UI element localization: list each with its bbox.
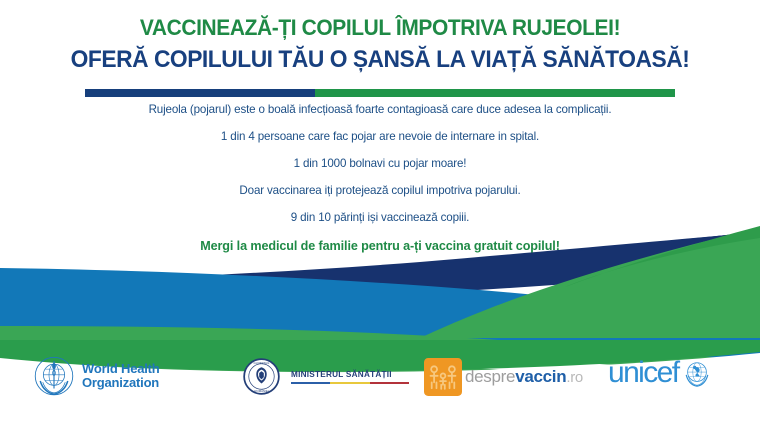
wave-blue	[0, 268, 760, 352]
logo-strip: World Health Organization GUVERNUL ROMÂN…	[0, 350, 760, 412]
family-icon	[424, 358, 462, 396]
ministerul-sanatatii-label: MINISTERUL SĂNĂTĂȚII	[291, 370, 409, 379]
body-line-1: Rujeola (pojarul) este o boală infecțioa…	[0, 104, 760, 116]
body-line-2: 1 din 4 persoane care fac pojar are nevo…	[0, 131, 760, 143]
desprevaccin-text-tld: .ro	[566, 369, 583, 386]
desprevaccin-logo[interactable]: desprevaccin.ro	[424, 358, 583, 396]
desprevaccin-wordmark: desprevaccin.ro	[465, 367, 583, 387]
ministerul-sanatatii-logo[interactable]: GUVERNUL ROMÂNIEI MINISTERUL SĂNĂTĂȚII	[243, 358, 409, 395]
desprevaccin-text-blue: vaccin	[515, 367, 566, 386]
ministerul-sanatatii-text-block: MINISTERUL SĂNĂTĂȚII	[280, 370, 409, 384]
body-copy: Rujeola (pojarul) este o boală infecțioa…	[0, 104, 760, 266]
guvernul-romaniei-seal-icon: GUVERNUL ROMÂNIEI	[243, 358, 280, 395]
unicef-logo[interactable]: unicef	[608, 358, 712, 388]
unicef-emblem-icon	[682, 358, 712, 388]
divider-bar	[85, 89, 675, 97]
desprevaccin-text-grey: despre	[465, 367, 515, 386]
body-line-3: 1 din 1000 bolnavi cu pojar moare!	[0, 158, 760, 170]
who-wordmark-line2: Organization	[82, 376, 160, 390]
svg-text:ROMÂNIEI: ROMÂNIEI	[254, 388, 268, 393]
poster-canvas: VACCINEAZĂ-ȚI COPILUL ÎMPOTRIVA RUJEOLEI…	[0, 0, 760, 426]
who-wordmark: World Health Organization	[82, 362, 160, 390]
divider-segment-green	[315, 89, 675, 97]
body-line-4: Doar vaccinarea iți protejează copilul i…	[0, 185, 760, 197]
who-logo[interactable]: World Health Organization	[34, 356, 160, 396]
unicef-wordmark: unicef	[608, 358, 678, 388]
headline-primary: VACCINEAZĂ-ȚI COPILUL ÎMPOTRIVA RUJEOLEI…	[27, 14, 734, 42]
headline-block: VACCINEAZĂ-ȚI COPILUL ÎMPOTRIVA RUJEOLEI…	[0, 14, 760, 76]
call-to-action: Mergi la medicul de familie pentru a-ți …	[0, 239, 760, 253]
svg-text:GUVERNUL: GUVERNUL	[254, 361, 270, 365]
wave-blue-left	[0, 267, 760, 363]
headline-secondary: OFERĂ COPILULUI TĂU O ȘANSĂ LA VIAȚĂ SĂN…	[27, 44, 734, 76]
ministerul-sanatatii-rule	[291, 382, 409, 384]
divider-segment-blue	[85, 89, 315, 97]
body-line-5: 9 din 10 părinți iși vaccinează copiii.	[0, 212, 760, 224]
who-emblem-icon	[34, 356, 74, 396]
who-wordmark-line1: World Health	[82, 362, 160, 376]
